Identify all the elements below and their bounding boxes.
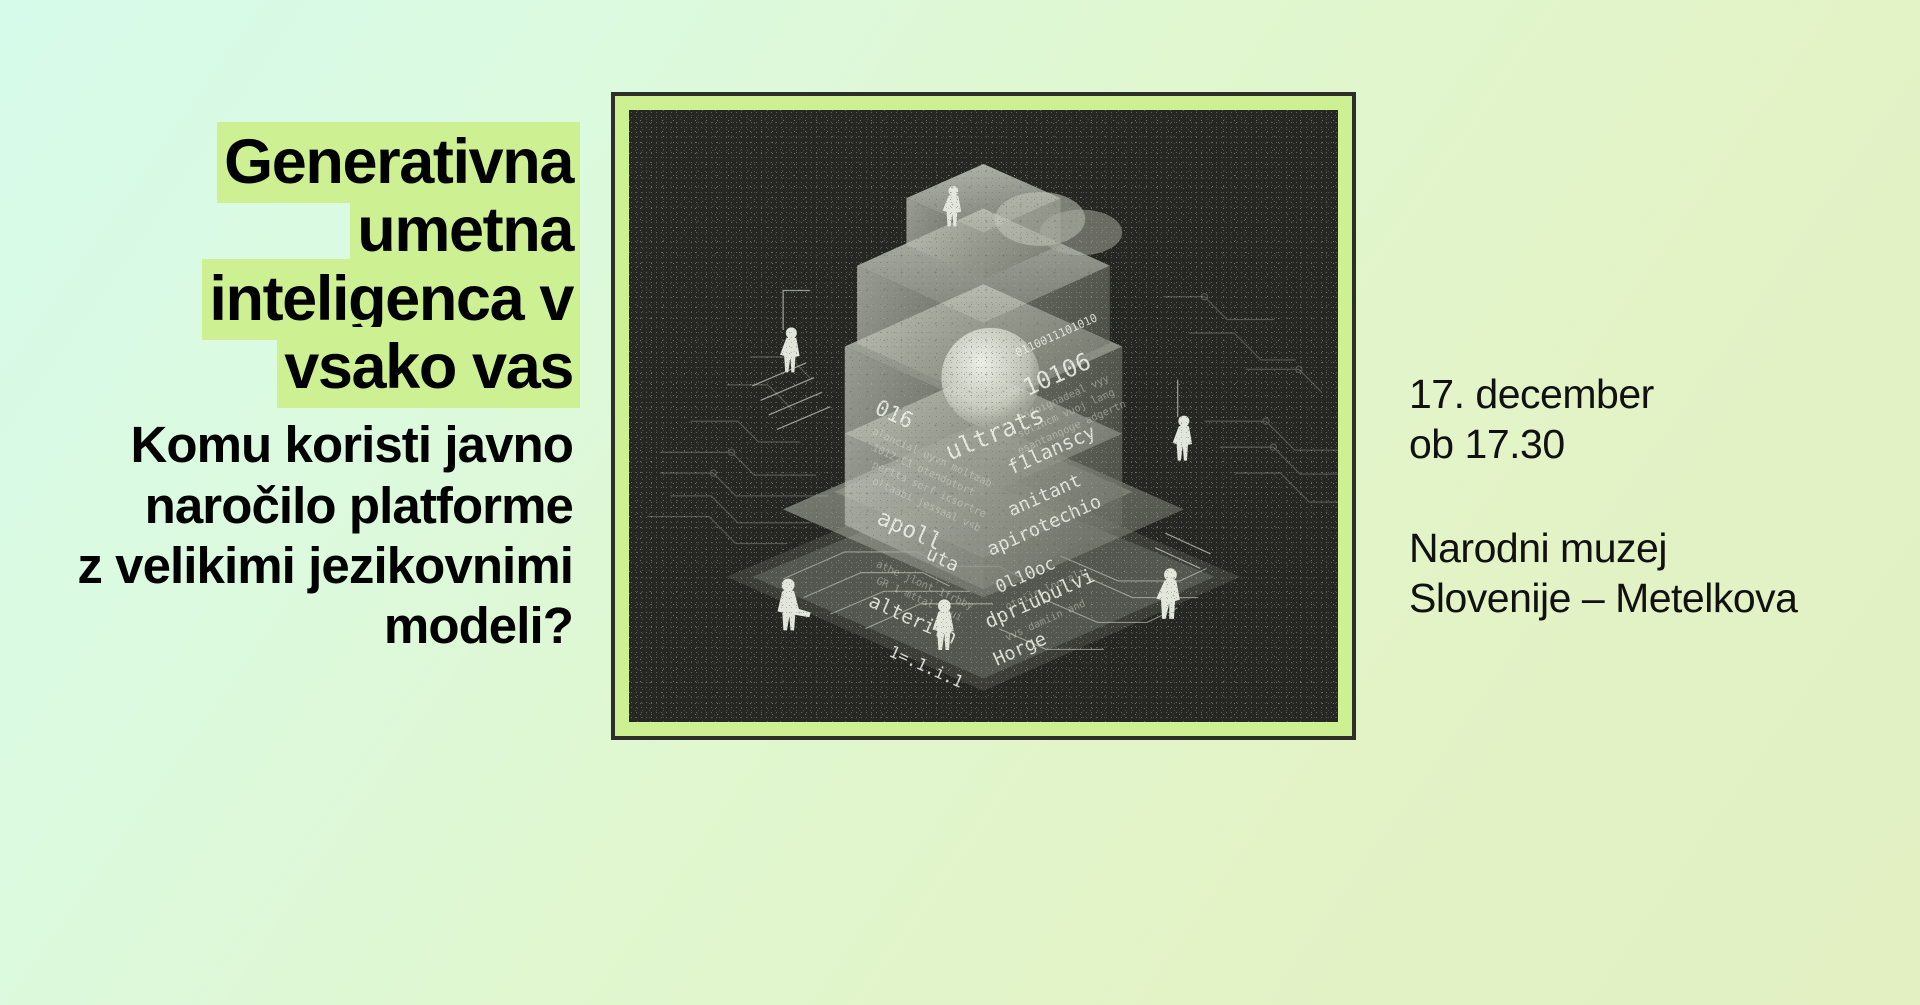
headline-line-2: umetna [0, 196, 580, 264]
headline-line-4: vsako vas [0, 333, 580, 401]
event-venue: Narodni muzej Slovenije – Metelkova [1409, 524, 1879, 623]
event-datetime: 17. december ob 17.30 [1409, 370, 1879, 469]
event-subtitle: Komu koristi javno naročilo platforme z … [0, 415, 580, 656]
artwork-illustration: 016 10106 0110011101010 ultrats f1lanscy… [629, 110, 1338, 722]
poster-frame: 016 10106 0110011101010 ultrats f1lanscy… [611, 92, 1356, 740]
headline-line-1: Generativna [0, 128, 580, 196]
event-date: 17. december [1409, 370, 1879, 420]
headline-line-3: inteligenca v [0, 265, 580, 333]
noise-texture-fine [629, 110, 1338, 722]
subtitle-line-1: Komu koristi javno [0, 415, 573, 475]
poster-inner-border: 016 10106 0110011101010 ultrats f1lanscy… [615, 96, 1352, 736]
subtitle-line-2: naročilo platforme [0, 476, 573, 536]
venue-line-2: Slovenije – Metelkova [1409, 574, 1879, 624]
venue-line-1: Narodni muzej [1409, 524, 1879, 574]
subtitle-line-4: modeli? [0, 596, 573, 656]
event-title: Generativna umetna inteligenca v vsako v… [0, 128, 580, 401]
subtitle-line-3: z velikimi jezikovnimi [0, 536, 573, 596]
headline-block: Generativna umetna inteligenca v vsako v… [0, 128, 580, 656]
event-details-block: 17. december ob 17.30 Narodni muzej Slov… [1409, 370, 1879, 623]
event-time: ob 17.30 [1409, 420, 1879, 470]
